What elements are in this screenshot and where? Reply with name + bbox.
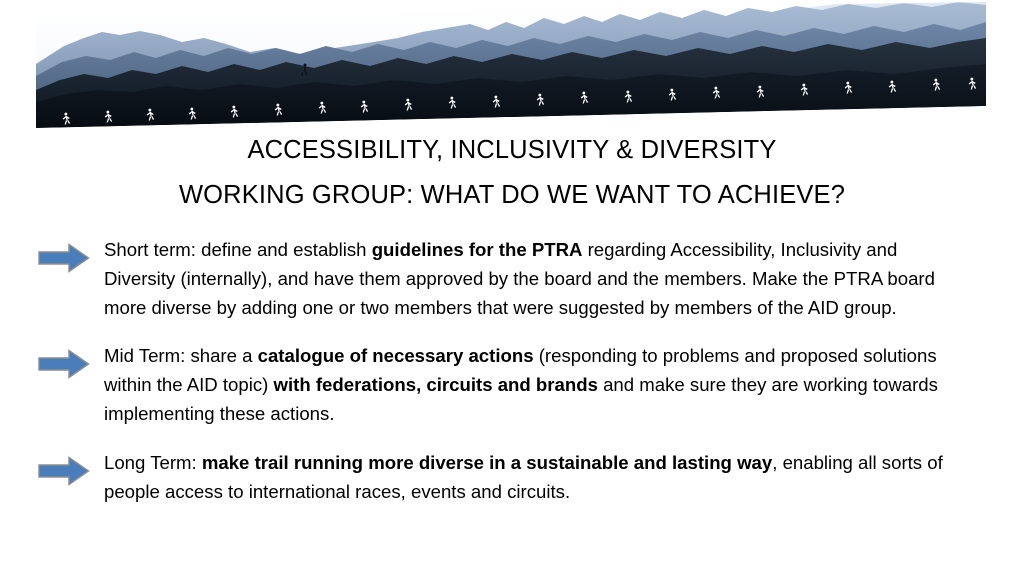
bullet-item-long-term: Long Term: make trail running more diver… — [0, 449, 1024, 507]
bullet-item-short-term: Short term: define and establish guideli… — [0, 236, 1024, 322]
bullet-text: Mid Term: share a catalogue of necessary… — [104, 342, 964, 428]
bullet-list: Short term: define and establish guideli… — [0, 236, 1024, 506]
right-arrow-icon — [38, 349, 90, 379]
slide-title: ACCESSIBILITY, INCLUSIVITY & DIVERSITY W… — [0, 128, 1024, 218]
photo-content — [36, 2, 986, 130]
banner-image — [36, 2, 986, 130]
right-arrow-icon — [38, 243, 90, 273]
right-arrow-icon — [38, 456, 90, 486]
mountain-photo-svg — [36, 2, 986, 130]
bullet-item-mid-term: Mid Term: share a catalogue of necessary… — [0, 342, 1024, 428]
title-line-1: ACCESSIBILITY, INCLUSIVITY & DIVERSITY — [0, 128, 1024, 173]
bullet-text: Long Term: make trail running more diver… — [104, 449, 964, 507]
title-line-2: WORKING GROUP: WHAT DO WE WANT TO ACHIEV… — [0, 173, 1024, 218]
bullet-text: Short term: define and establish guideli… — [104, 236, 964, 322]
